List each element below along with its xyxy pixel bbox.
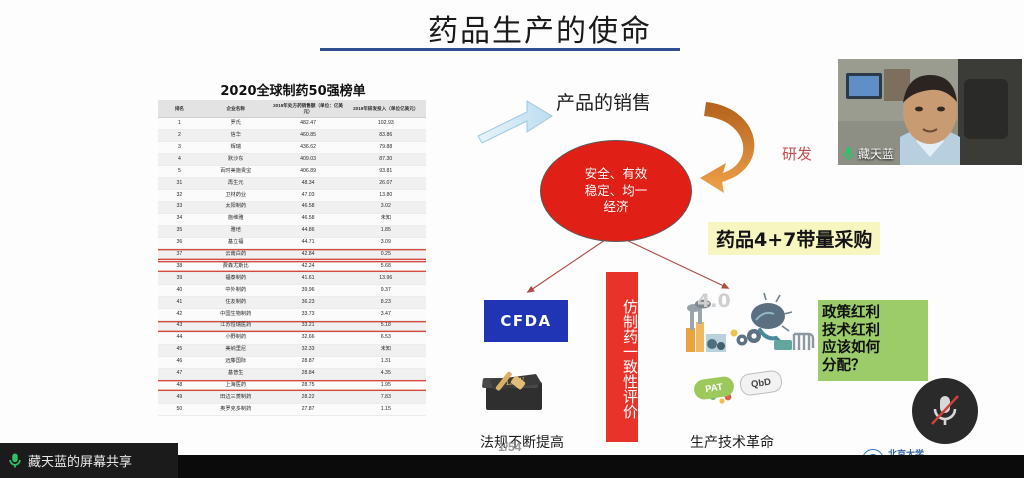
table-cell: 32.33 [271, 344, 346, 356]
table-row: 49田边三菱制药28.227.83 [158, 392, 426, 404]
table-cell: 93.81 [346, 166, 426, 178]
table-cell: 罗氏 [201, 118, 271, 130]
core-line-2: 稳定、均一 [585, 183, 648, 200]
table-cell: 28.75 [271, 380, 346, 392]
core-line-1: 安全、有效 [585, 166, 648, 183]
table-cell: 46.58 [271, 213, 346, 225]
pharma-ranking-table: 排名 企业名称 2019年处方药销售额（单位：亿美元） 2019年研发投入（单位… [158, 100, 426, 416]
table-cell: 43 [158, 320, 201, 332]
table-row: 38费森尤斯比42.245.68 [158, 261, 426, 273]
table-row: 3辉瑞436.6279.88 [158, 142, 426, 154]
table-cell: 百时美施贵宝 [201, 166, 271, 178]
table-cell: 83.86 [346, 130, 426, 142]
table-cell: 1.31 [346, 356, 426, 368]
policy-question-box: 政策红利技术红利应该如何分配？ [818, 300, 928, 381]
table-row: 33太阳制药46.583.02 [158, 201, 426, 213]
table-row: 4默沙东409.0387.30 [158, 154, 426, 166]
table-cell: 50 [158, 404, 201, 416]
table-cell: 41 [158, 297, 201, 309]
table-cell: 46 [158, 356, 201, 368]
table-cell: 32.66 [271, 332, 346, 344]
participant-name-label: 藏天蓝 [842, 145, 894, 162]
table-cell: 46.58 [271, 201, 346, 213]
table-cell: 施维雅 [201, 213, 271, 225]
table-cell: 44 [158, 332, 201, 344]
table-cell: 35 [158, 225, 201, 237]
table-cell: 48.34 [271, 178, 346, 190]
th-sales: 2019年处方药销售额（单位：亿美元） [271, 100, 346, 118]
table-row: 44小野制药32.666.53 [158, 332, 426, 344]
table-cell: 28.22 [271, 392, 346, 404]
table-cell: 3.47 [346, 308, 426, 320]
table-cell: 2 [158, 130, 201, 142]
table-title: 2020全球制药50强榜单 [158, 80, 428, 99]
page-title: 药品生产的使命 [330, 6, 750, 50]
table-row: 34施维雅46.58未知 [158, 213, 426, 225]
screen-share-bar[interactable]: 藏天蓝的屏幕共享 [0, 443, 178, 478]
table-cell: 奥罗克多制药 [201, 404, 271, 416]
table-cell: 39.96 [271, 285, 346, 297]
microphone-icon [8, 452, 22, 469]
table-cell: 28.84 [271, 368, 346, 380]
table-cell: 7.83 [346, 392, 426, 404]
screen-share-label: 藏天蓝的屏幕共享 [28, 451, 132, 470]
pat-capsule: PAT [693, 375, 735, 400]
table-cell: 37 [158, 249, 201, 261]
rnd-label: 研发 [782, 143, 812, 164]
th-rnd: 2019年研发投入（单位亿美元） [346, 100, 426, 118]
table-cell: 3.09 [346, 237, 426, 249]
table-cell: 卫材药业 [201, 189, 271, 201]
table-cell: 87.30 [346, 154, 426, 166]
microphone-icon [842, 146, 855, 161]
svg-text:LAW: LAW [505, 376, 526, 387]
table-cell: 42.24 [271, 261, 346, 273]
table-cell: 33 [158, 201, 201, 213]
table-cell: 409.03 [271, 154, 346, 166]
table-cell: 雅培 [201, 225, 271, 237]
policy-question-line: 政策红利 [822, 305, 924, 323]
participant-name: 藏天蓝 [858, 145, 894, 162]
table-cell: 44.86 [271, 225, 346, 237]
law-caption: 法规不断提高 [480, 432, 564, 452]
table-cell: 33.21 [271, 320, 346, 332]
procurement-banner: 药品4+7带量采购 [708, 222, 880, 255]
table-cell: 27.87 [271, 404, 346, 416]
table-cell: 信华 [201, 130, 271, 142]
table-cell: 34 [158, 213, 201, 225]
table-row: 42中国生物制药33.733.47 [158, 308, 426, 320]
table-row: 50奥罗克多制药27.871.15 [158, 404, 426, 416]
table-row: 5百时美施贵宝406.8993.81 [158, 166, 426, 178]
table-cell: 1.95 [346, 380, 426, 392]
table-cell: 9.37 [346, 285, 426, 297]
table-cell: 福泰制药 [201, 273, 271, 285]
table-row: 46远藤国际28.871.31 [158, 356, 426, 368]
table-cell: 基普生 [201, 368, 271, 380]
table-cell: 中外制药 [201, 285, 271, 297]
table-cell: 42.84 [271, 249, 346, 261]
table-cell: 住友制药 [201, 297, 271, 309]
table-cell: 49 [158, 392, 201, 404]
table-cell: 31 [158, 178, 201, 190]
table-cell: 39 [158, 273, 201, 285]
table-cell: 36.23 [271, 297, 346, 309]
table-row: 40中外制药39.969.37 [158, 285, 426, 297]
table-header-row: 排名 企业名称 2019年处方药销售额（单位：亿美元） 2019年研发投入（单位… [158, 100, 426, 118]
table-cell: 3.02 [346, 201, 426, 213]
th-rank: 排名 [158, 100, 201, 118]
table-cell: 47 [158, 368, 201, 380]
policy-question-line: 分配？ [822, 358, 924, 376]
qbd-capsule: QbD [739, 369, 784, 397]
table-cell: 未知 [346, 344, 426, 356]
zoom-screen-share-window: 药品生产的使命 2020全球制药50强榜单 排名 企业名称 2019年处方药销售… [0, 0, 1024, 478]
table-cell: 28.87 [271, 356, 346, 368]
table-cell: 47.03 [271, 189, 346, 201]
table-cell: 3 [158, 142, 201, 154]
core-line-3: 经济 [603, 199, 628, 216]
table-cell: 32 [158, 189, 201, 201]
table-row: 31再生元48.3426.07 [158, 178, 426, 190]
table-cell: 1.85 [346, 225, 426, 237]
table-cell: 79.88 [346, 142, 426, 154]
table-cell: 未知 [346, 213, 426, 225]
table-cell: 4.35 [346, 368, 426, 380]
microphone-muted-icon [928, 392, 962, 430]
cfda-logo: CFDA [484, 300, 568, 342]
table-cell: 460.85 [271, 130, 346, 142]
table-cell: 云南白药 [201, 249, 271, 261]
table-cell: 102.93 [346, 118, 426, 130]
tech-caption: 生产技术革命 [690, 432, 774, 452]
table-row: 48上海医药28.751.95 [158, 380, 426, 392]
industry-version-label: 4.0 [697, 290, 731, 312]
table-cell: 4 [158, 154, 201, 166]
th-company: 企业名称 [201, 100, 271, 118]
table-cell: 48 [158, 380, 201, 392]
table-cell: 406.89 [271, 166, 346, 178]
table-cell: 1 [158, 118, 201, 130]
table-body: 1罗氏482.47102.932信华460.8583.863辉瑞436.6279… [158, 118, 426, 416]
table-cell: 中国生物制药 [201, 308, 271, 320]
core-mission-ellipse: 安全、有效 稳定、均一 经济 [540, 140, 692, 242]
title-underline [320, 48, 680, 51]
table-cell: 38 [158, 261, 201, 273]
table-cell: 13.80 [346, 189, 426, 201]
table-cell: 5.18 [346, 320, 426, 332]
table-row: 47基普生28.844.35 [158, 368, 426, 380]
table-cell: 远藤国际 [201, 356, 271, 368]
table-cell: 42 [158, 308, 201, 320]
table-cell: 436.62 [271, 142, 346, 154]
table-row: 35雅培44.861.85 [158, 225, 426, 237]
page-indicator: 1/54 [498, 440, 521, 454]
table-row: 1罗氏482.47102.93 [158, 118, 426, 130]
table-cell: 26.07 [346, 178, 426, 190]
mute-button[interactable] [912, 378, 978, 444]
table-cell: 美纳里尼 [201, 344, 271, 356]
table-cell: 40 [158, 285, 201, 297]
policy-question-line: 应该如何 [822, 340, 924, 358]
table-cell: 基立福 [201, 237, 271, 249]
table-row: 2信华460.8583.86 [158, 130, 426, 142]
table-cell: 费森尤斯比 [201, 261, 271, 273]
table-cell: 6.53 [346, 332, 426, 344]
sales-label: 产品的销售 [556, 88, 651, 115]
participant-video-tile[interactable]: 藏天蓝 [836, 57, 1024, 167]
table-cell: 5 [158, 166, 201, 178]
table-cell: 太阳制药 [201, 201, 271, 213]
table-cell: 田边三菱制药 [201, 392, 271, 404]
table-cell: 辉瑞 [201, 142, 271, 154]
table-row: 39福泰制药41.6113.96 [158, 273, 426, 285]
generic-consistency-banner: 仿制药一致性评价 [606, 272, 638, 442]
table-row: 32卫材药业47.0313.80 [158, 189, 426, 201]
table-cell: 44.71 [271, 237, 346, 249]
table-row: 43江苏恒瑞医药33.215.18 [158, 320, 426, 332]
table-row: 37云南白药42.840.25 [158, 249, 426, 261]
table-cell: 482.47 [271, 118, 346, 130]
table-cell: 33.73 [271, 308, 346, 320]
table-cell: 江苏恒瑞医药 [201, 320, 271, 332]
table-cell: 1.15 [346, 404, 426, 416]
table-cell: 41.61 [271, 273, 346, 285]
table-cell: 上海医药 [201, 380, 271, 392]
table-cell: 小野制药 [201, 332, 271, 344]
table-cell: 5.68 [346, 261, 426, 273]
table-row: 36基立福44.713.09 [158, 237, 426, 249]
table-cell: 再生元 [201, 178, 271, 190]
policy-question-line: 技术红利 [822, 323, 924, 341]
table-cell: 45 [158, 344, 201, 356]
table-cell: 13.96 [346, 273, 426, 285]
table-cell: 36 [158, 237, 201, 249]
table-row: 41住友制药36.238.23 [158, 297, 426, 309]
table-cell: 0.25 [346, 249, 426, 261]
table-cell: 8.23 [346, 297, 426, 309]
table-cell: 默沙东 [201, 154, 271, 166]
table-row: 45美纳里尼32.33未知 [158, 344, 426, 356]
